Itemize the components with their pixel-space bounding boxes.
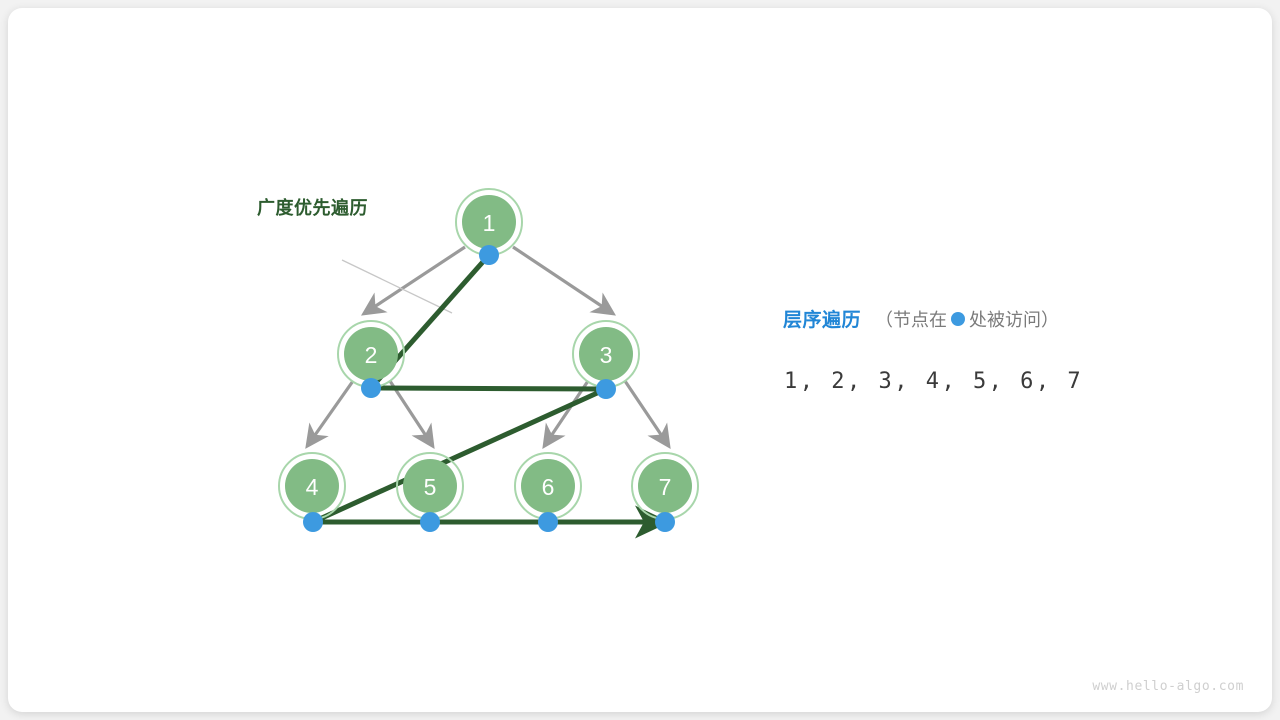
node-7-label: 7 [659,474,672,500]
legend-note: （节点在 处被访问） [875,306,1059,332]
node-6-label: 6 [542,474,555,500]
tree-node-2[interactable]: 2 [338,321,404,387]
legend: 层序遍历 （节点在 处被访问） [783,305,1059,332]
node-4-label: 4 [306,474,319,500]
bfs-annotation-label: 广度优先遍历 [257,194,368,220]
tree-node-7[interactable]: 7 [632,453,698,519]
bfs-tree-diagram: 1 2 3 4 5 6 [8,8,1272,712]
figure-card: 1 2 3 4 5 6 [8,8,1272,712]
node-2-label: 2 [365,342,378,368]
path-2-3 [371,388,606,389]
traversal-sequence: 1, 2, 3, 4, 5, 6, 7 [784,369,1083,394]
legend-note-suffix: 处被访问） [969,306,1059,332]
legend-note-prefix: （节点在 [875,306,947,332]
tree-node-6[interactable]: 6 [515,453,581,519]
visit-dot-4-icon [303,512,323,532]
edge-2-4 [308,381,353,445]
edge-3-7 [625,381,668,445]
visit-dot-1-icon [479,245,499,265]
tree-node-5[interactable]: 5 [397,453,463,519]
visit-dot-3-icon [596,379,616,399]
edge-1-2 [365,247,465,313]
edge-1-3 [513,247,612,313]
watermark: www.hello-algo.com [1092,679,1244,694]
tree-node-4[interactable]: 4 [279,453,345,519]
node-1-label: 1 [483,210,496,236]
node-3-label: 3 [600,342,613,368]
visit-dot-5-icon [420,512,440,532]
visit-dot-6-icon [538,512,558,532]
node-5-label: 5 [424,474,437,500]
blue-dot-icon [951,312,965,326]
visit-dot-2-icon [361,378,381,398]
visit-dot-7-icon [655,512,675,532]
legend-title: 层序遍历 [783,305,861,332]
tree-node-3[interactable]: 3 [573,321,639,387]
